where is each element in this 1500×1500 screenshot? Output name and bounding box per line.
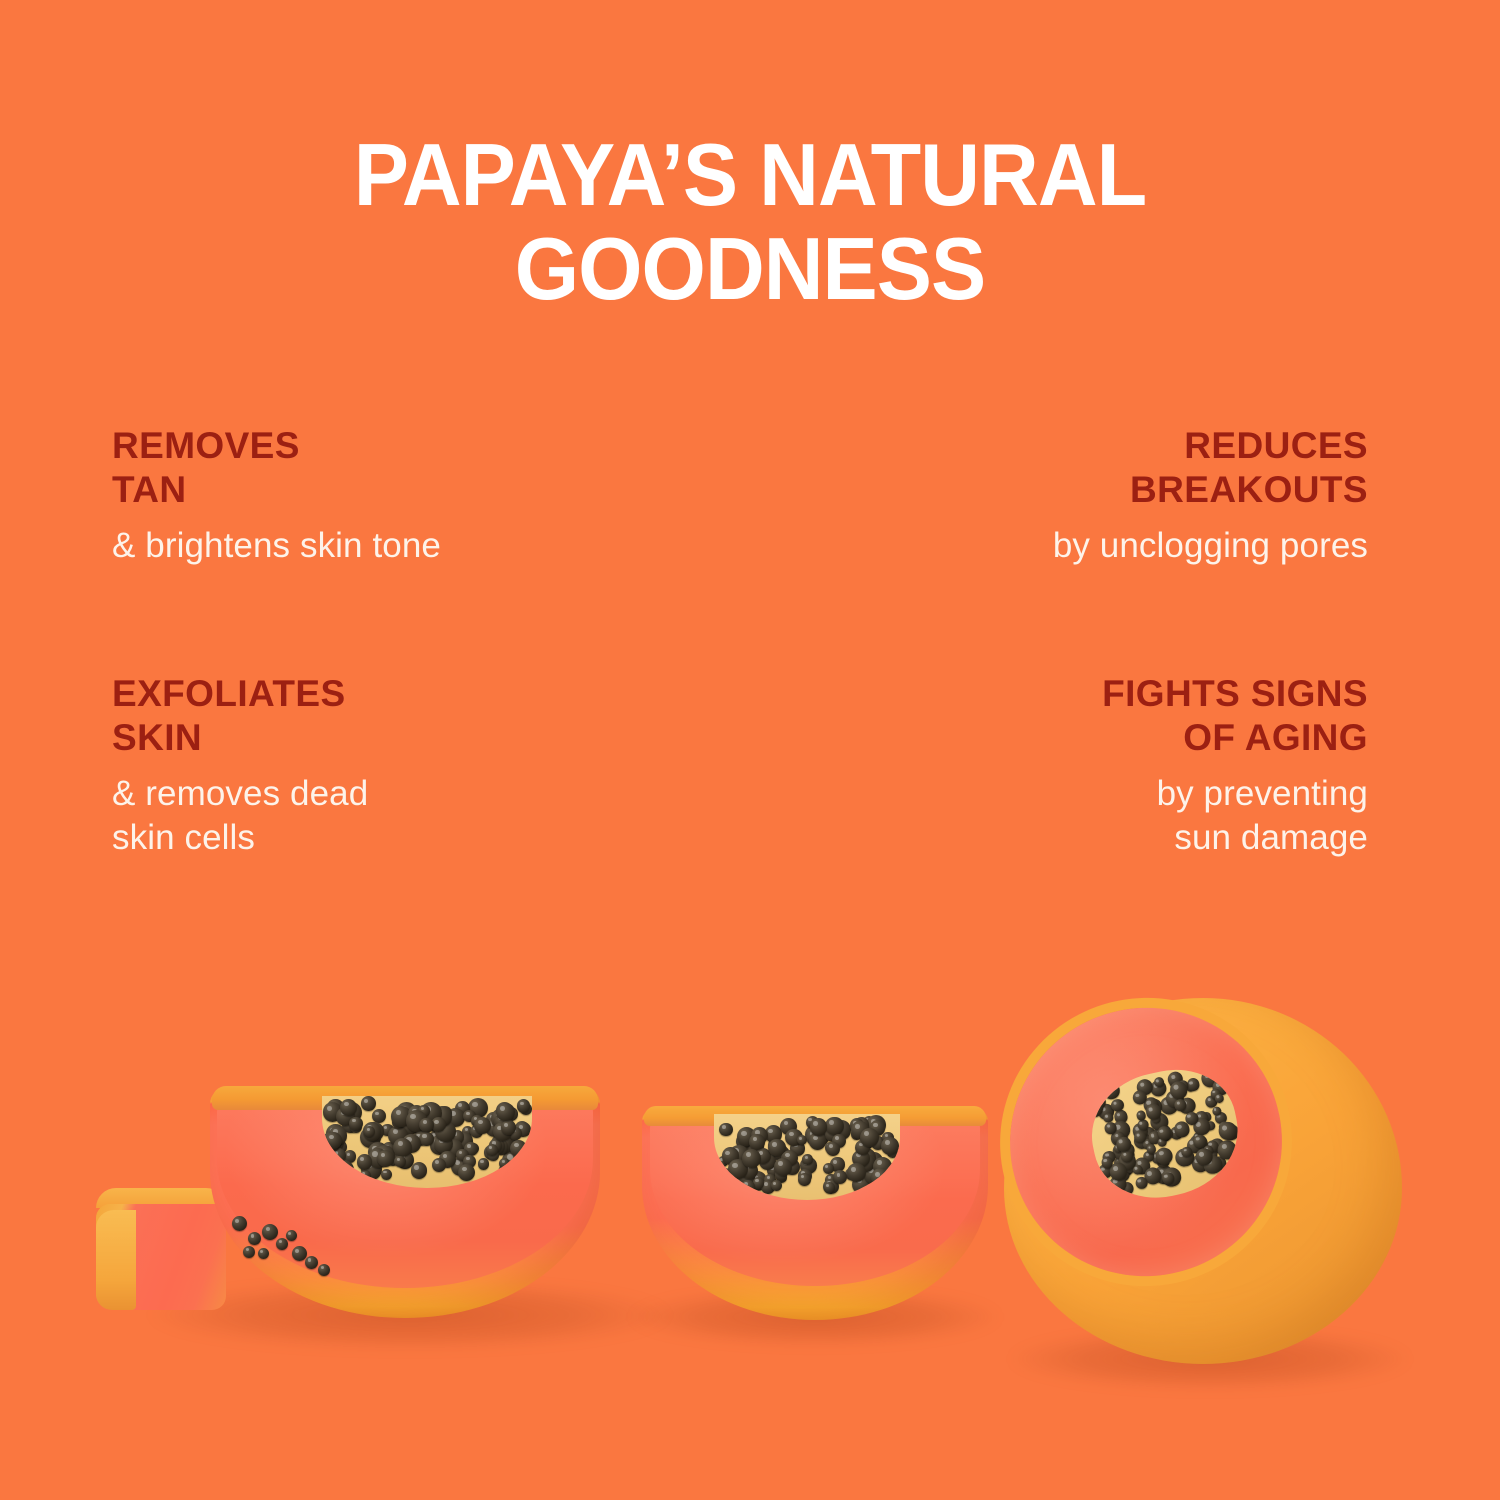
papaya-seed <box>318 1264 330 1276</box>
papaya-seed <box>262 1224 278 1240</box>
papaya-seed <box>394 1156 405 1167</box>
papaya-seed <box>340 1099 357 1116</box>
papaya-seed <box>458 1164 475 1181</box>
papaya-seed <box>771 1180 782 1191</box>
papaya-seed <box>411 1162 427 1178</box>
papaya-seed <box>798 1173 811 1186</box>
papaya-imagery <box>0 980 1500 1500</box>
benefit-fights-signs-of-aging: FIGHTS SIGNS OF AGING by preventing sun … <box>808 672 1368 860</box>
papaya-seed <box>334 1160 354 1180</box>
papaya-seed <box>381 1169 392 1180</box>
papaya-seed <box>719 1123 733 1137</box>
benefit-heading: REDUCES BREAKOUTS <box>808 424 1368 512</box>
papaya-seed <box>881 1137 899 1155</box>
papaya-cube <box>96 1188 226 1310</box>
papaya-seed <box>377 1150 394 1167</box>
papaya-seed <box>802 1154 813 1165</box>
papaya-benefits-poster: PAPAYA’S NATURAL GOODNESS REMOVES TAN & … <box>0 0 1500 1500</box>
papaya-seed <box>833 1170 847 1184</box>
papaya-seed <box>826 1142 840 1156</box>
benefit-heading: REMOVES TAN <box>112 424 672 512</box>
papaya-wedge-medium <box>642 1108 988 1320</box>
benefit-exfoliates-skin: EXFOLIATES SKIN & removes dead skin cell… <box>112 672 672 860</box>
papaya-seed <box>361 1096 376 1111</box>
papaya-seed <box>823 1163 834 1174</box>
papaya-seed <box>741 1180 755 1194</box>
papaya-seed <box>517 1099 530 1112</box>
benefit-heading: FIGHTS SIGNS OF AGING <box>808 672 1368 760</box>
page-title-line-2: GOODNESS <box>45 222 1455 316</box>
papaya-seed <box>258 1248 269 1259</box>
page-title: PAPAYA’S NATURAL GOODNESS <box>0 128 1500 316</box>
benefit-subtext: & removes dead skin cells <box>112 772 672 860</box>
benefit-subtext: by preventing sun damage <box>808 772 1368 860</box>
papaya-seed <box>860 1128 879 1147</box>
papaya-seed <box>871 1168 890 1187</box>
papaya-seed <box>742 1149 761 1168</box>
papaya-half <box>1004 998 1402 1364</box>
papaya-seed <box>432 1158 446 1172</box>
papaya-seed <box>393 1138 412 1157</box>
papaya-seed <box>496 1103 515 1122</box>
page-title-line-1: PAPAYA’S NATURAL <box>45 128 1455 222</box>
papaya-seed <box>510 1140 527 1157</box>
papaya-cube-left-face <box>96 1210 136 1310</box>
papaya-seed <box>810 1118 828 1136</box>
papaya-wedge-large <box>210 1088 600 1318</box>
benefit-reduces-breakouts: REDUCES BREAKOUTS by unclogging pores <box>808 424 1368 568</box>
papaya-seed <box>749 1134 764 1149</box>
papaya-seed <box>349 1117 362 1130</box>
papaya-seed <box>419 1132 434 1147</box>
papaya-seed <box>276 1238 288 1250</box>
papaya-seed <box>325 1132 342 1149</box>
papaya-seed <box>248 1232 261 1245</box>
papaya-seed <box>797 1135 807 1145</box>
papaya-seed <box>372 1109 386 1123</box>
papaya-seed <box>486 1144 498 1156</box>
papaya-seed <box>478 1158 489 1169</box>
benefit-removes-tan: REMOVES TAN & brightens skin tone <box>112 424 672 568</box>
papaya-seed <box>501 1120 516 1135</box>
benefit-subtext: by unclogging pores <box>808 524 1368 568</box>
benefit-heading: EXFOLIATES SKIN <box>112 672 672 760</box>
papaya-seed <box>286 1230 297 1241</box>
benefits-grid: REMOVES TAN & brightens skin tone REDUCE… <box>0 424 1500 924</box>
papaya-seed <box>825 1117 843 1135</box>
papaya-seed <box>305 1256 318 1269</box>
papaya-seed <box>243 1246 255 1258</box>
papaya-seed <box>510 1162 526 1178</box>
papaya-seed <box>357 1154 373 1170</box>
papaya-seed <box>232 1216 247 1231</box>
benefit-subtext: & brightens skin tone <box>112 524 672 568</box>
